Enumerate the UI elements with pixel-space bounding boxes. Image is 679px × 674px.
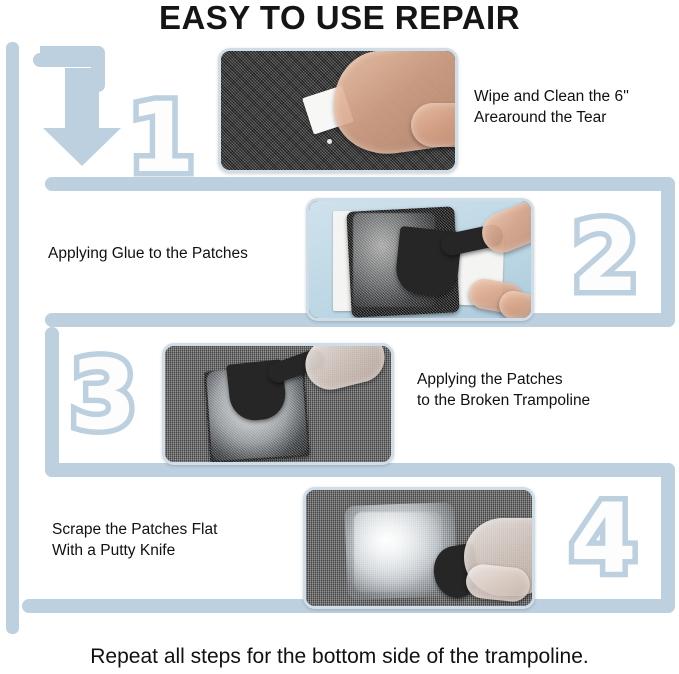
step-4-text: Scrape the Patches Flat With a Putty Kni… (52, 519, 282, 561)
steps-container: 1 Wipe and Clean the 6'' Arearound the T… (0, 0, 679, 674)
footer-caption: Repeat all steps for the bottom side of … (0, 642, 679, 672)
step-4: Scrape the Patches Flat With a Putty Kni… (0, 477, 679, 599)
glove-finger (411, 103, 455, 147)
step-3-photo (162, 343, 394, 465)
step-number-4: 4 (570, 491, 637, 587)
step-1-text: Wipe and Clean the 6'' Arearound the Tea… (474, 86, 674, 128)
step-2-photo (306, 198, 534, 321)
step-4-photo (303, 487, 535, 609)
step-2: Applying Glue to the Patches 2 (0, 191, 679, 313)
step-number-2: 2 (572, 209, 639, 305)
step-3: 3 Applying the Patches to the Broken Tra… (0, 327, 679, 463)
step-number-3: 3 (70, 347, 137, 443)
step-1: 1 Wipe and Clean the 6'' Arearound the T… (0, 42, 679, 177)
step-number-1: 1 (128, 90, 195, 186)
step-2-text: Applying Glue to the Patches (48, 243, 308, 264)
step-3-text: Applying the Patches to the Broken Tramp… (417, 369, 657, 411)
tear-marker (327, 139, 332, 144)
glue-shine (354, 512, 442, 592)
step-1-photo (218, 48, 458, 173)
